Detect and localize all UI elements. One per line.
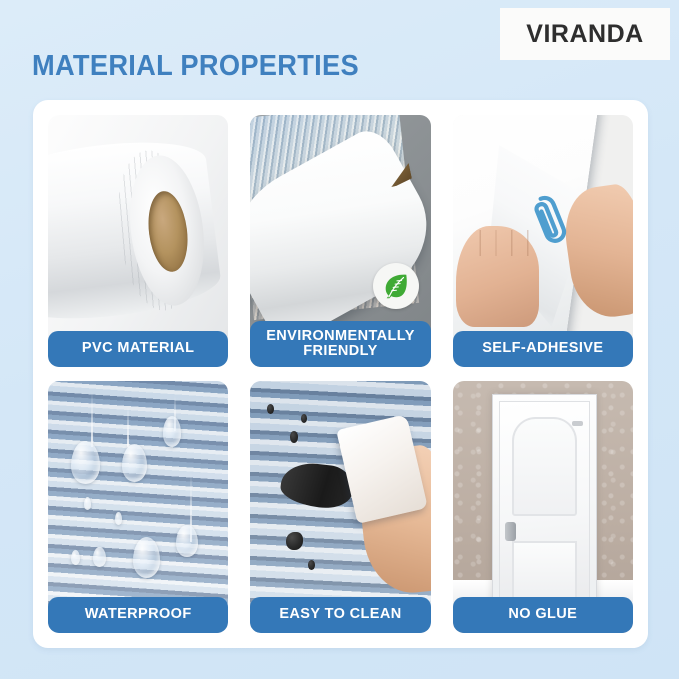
cleaning-cloth-shape: [336, 414, 428, 524]
stain-spot: [301, 414, 307, 423]
feature-panel-no-glue: NO GLUE: [453, 381, 633, 633]
droplet-trail: [127, 406, 129, 446]
water-droplet: [133, 537, 160, 577]
door-hinge-shape: [572, 421, 583, 426]
feature-label-easy-to-clean: EASY TO CLEAN: [250, 597, 430, 633]
feature-panel-waterproof: WATERPROOF: [48, 381, 228, 633]
door-room-image: [453, 381, 633, 633]
features-grid: PVC MATERIAL ENVIRONMENTALLY FRIENDLY: [48, 115, 633, 633]
easy-to-clean-image: [250, 381, 430, 633]
left-hand-shape: [456, 226, 539, 327]
page-title: MATERIAL PROPERTIES: [32, 50, 359, 83]
water-droplet: [71, 441, 100, 484]
water-droplet: [122, 444, 147, 482]
door-bottom-panel: [512, 541, 577, 599]
features-card: PVC MATERIAL ENVIRONMENTALLY FRIENDLY: [33, 100, 648, 648]
door-shape: [499, 401, 589, 610]
water-droplet: [176, 525, 198, 558]
feature-panel-easy-to-clean: EASY TO CLEAN: [250, 381, 430, 633]
brand-logo-text: VIRANDA: [526, 20, 643, 49]
droplet-trail: [91, 391, 93, 446]
feature-panel-environmentally-friendly: ENVIRONMENTALLY FRIENDLY: [250, 115, 430, 367]
water-droplet: [163, 416, 181, 446]
leaf-icon: [373, 263, 419, 309]
water-droplet: [115, 512, 122, 525]
feature-label-pvc-material: PVC MATERIAL: [48, 331, 228, 367]
feature-label-self-adhesive: SELF-ADHESIVE: [453, 331, 633, 367]
brand-logo-box: VIRANDA: [500, 8, 670, 60]
door-frame-shape: [492, 394, 597, 616]
door-handle-shape: [505, 522, 516, 541]
water-droplet: [71, 550, 80, 565]
door-top-panel: [512, 417, 577, 516]
feature-label-waterproof: WATERPROOF: [48, 597, 228, 633]
water-droplet: [93, 547, 106, 567]
stain-spot: [267, 404, 274, 414]
waterproof-droplets-image: [48, 381, 228, 633]
water-droplet: [84, 497, 91, 510]
stain-spot: [286, 532, 302, 550]
feature-panel-pvc-material: PVC MATERIAL: [48, 115, 228, 367]
pvc-roll-image: [48, 115, 228, 367]
stain-spot: [308, 560, 315, 570]
infographic-page: { "brand": { "logo_text": "VIRANDA" }, "…: [0, 0, 679, 679]
feature-label-no-glue: NO GLUE: [453, 597, 633, 633]
feature-label-environmentally-friendly: ENVIRONMENTALLY FRIENDLY: [250, 321, 430, 367]
feature-panel-self-adhesive: SELF-ADHESIVE: [453, 115, 633, 367]
stain-spot: [290, 431, 298, 442]
